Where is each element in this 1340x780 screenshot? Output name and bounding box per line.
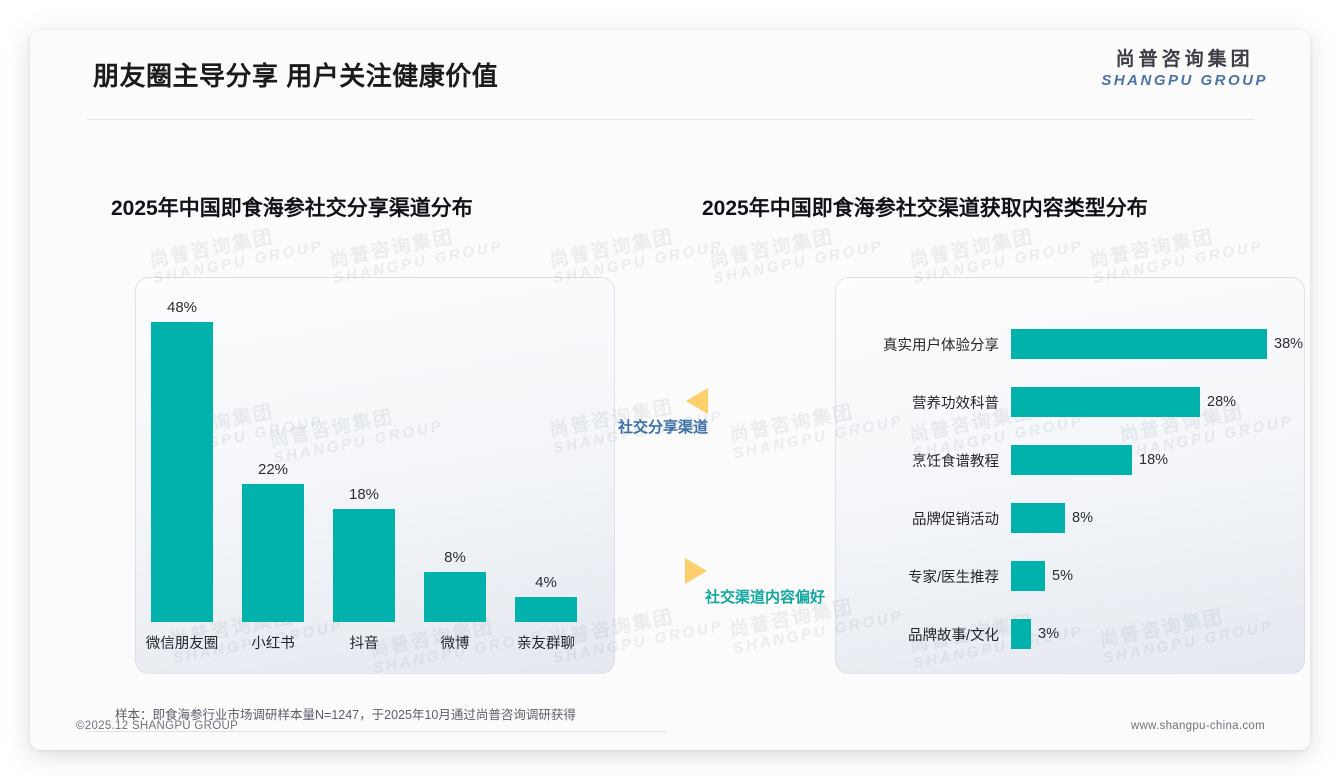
bar-track: 38% bbox=[1011, 329, 1305, 359]
bar-fill[interactable] bbox=[1011, 387, 1200, 417]
column-value-label: 8% bbox=[416, 549, 494, 566]
column-bar[interactable] bbox=[515, 597, 577, 622]
left-column-chart: 48%微信朋友圈22%小红书18%抖音8%微博4%亲友群聊 bbox=[135, 277, 615, 674]
column-category-label: 微博 bbox=[406, 632, 504, 653]
column-value-label: 48% bbox=[143, 299, 221, 316]
bar-value-label: 18% bbox=[1139, 452, 1168, 468]
column-bar[interactable] bbox=[424, 572, 486, 622]
column-value-label: 22% bbox=[234, 461, 312, 478]
annotation-label: 社交渠道内容偏好 bbox=[705, 586, 825, 607]
column-value-label: 4% bbox=[507, 574, 585, 591]
right-chart-title: 2025年中国即食海参社交渠道获取内容类型分布 bbox=[702, 192, 1148, 222]
bar-fill[interactable] bbox=[1011, 503, 1065, 533]
column-group: 18%抖音 bbox=[325, 509, 403, 622]
annotation-label: 社交分享渠道 bbox=[618, 416, 708, 437]
bar-row: 品牌故事/文化3% bbox=[835, 617, 1305, 651]
slide-footer: ©2025.12 SHANGPU GROUP www.shangpu-china… bbox=[30, 708, 1310, 750]
right-bar-chart: 真实用户体验分享38%营养功效科普28%烹饪食谱教程18%品牌促销活动8%专家/… bbox=[835, 277, 1305, 674]
column-category-label: 亲友群聊 bbox=[497, 632, 595, 653]
website-url[interactable]: www.shangpu-china.com bbox=[1131, 720, 1265, 732]
company-logo: 尚普咨询集团 SHANGPU GROUP bbox=[1101, 48, 1268, 91]
bar-track: 18% bbox=[1011, 445, 1305, 475]
bar-category-label: 烹饪食谱教程 bbox=[835, 450, 1011, 471]
slide-header: 朋友圈主导分享 用户关注健康价值 尚普咨询集团 SHANGPU GROUP bbox=[30, 30, 1310, 120]
column-value-label: 18% bbox=[325, 486, 403, 503]
column-category-label: 微信朋友圈 bbox=[133, 632, 231, 653]
bar-row: 营养功效科普28% bbox=[835, 385, 1305, 419]
page-title: 朋友圈主导分享 用户关注健康价值 bbox=[93, 56, 498, 93]
bar-category-label: 营养功效科普 bbox=[835, 392, 1011, 413]
bar-value-label: 8% bbox=[1072, 510, 1093, 526]
left-chart-title: 2025年中国即食海参社交分享渠道分布 bbox=[111, 192, 473, 222]
copyright-text: ©2025.12 SHANGPU GROUP bbox=[76, 720, 238, 732]
bar-row: 品牌促销活动8% bbox=[835, 501, 1305, 535]
column-group: 4%亲友群聊 bbox=[507, 597, 585, 622]
bar-track: 8% bbox=[1011, 503, 1305, 533]
bar-value-label: 38% bbox=[1274, 336, 1303, 352]
column-bar[interactable] bbox=[151, 322, 213, 622]
column-group: 48%微信朋友圈 bbox=[143, 322, 221, 622]
slide-canvas: 朋友圈主导分享 用户关注健康价值 尚普咨询集团 SHANGPU GROUP 20… bbox=[30, 30, 1310, 750]
bar-row: 烹饪食谱教程18% bbox=[835, 443, 1305, 477]
bar-category-label: 品牌促销活动 bbox=[835, 508, 1011, 529]
bar-category-label: 真实用户体验分享 bbox=[835, 334, 1011, 355]
bar-fill[interactable] bbox=[1011, 445, 1132, 475]
bar-category-label: 专家/医生推荐 bbox=[835, 566, 1011, 587]
header-divider bbox=[87, 119, 1255, 120]
column-bar[interactable] bbox=[333, 509, 395, 622]
triangle-left-icon bbox=[686, 388, 708, 414]
logo-chinese-text: 尚普咨询集团 bbox=[1101, 48, 1268, 72]
logo-english-text: SHANGPU GROUP bbox=[1101, 72, 1268, 91]
bar-row: 专家/医生推荐5% bbox=[835, 559, 1305, 593]
column-category-label: 小红书 bbox=[224, 632, 322, 653]
bar-fill[interactable] bbox=[1011, 561, 1045, 591]
bar-fill[interactable] bbox=[1011, 329, 1267, 359]
bar-row: 真实用户体验分享38% bbox=[835, 327, 1305, 361]
bar-track: 28% bbox=[1011, 387, 1305, 417]
column-group: 8%微博 bbox=[416, 572, 494, 622]
triangle-right-icon bbox=[685, 558, 707, 584]
bar-track: 5% bbox=[1011, 561, 1305, 591]
bar-category-label: 品牌故事/文化 bbox=[835, 624, 1011, 645]
column-group: 22%小红书 bbox=[234, 484, 312, 622]
bar-track: 3% bbox=[1011, 619, 1305, 649]
column-bar[interactable] bbox=[242, 484, 304, 622]
bar-value-label: 5% bbox=[1052, 568, 1073, 584]
bar-value-label: 28% bbox=[1207, 394, 1236, 410]
bar-value-label: 3% bbox=[1038, 626, 1059, 642]
column-category-label: 抖音 bbox=[315, 632, 413, 653]
bar-fill[interactable] bbox=[1011, 619, 1031, 649]
